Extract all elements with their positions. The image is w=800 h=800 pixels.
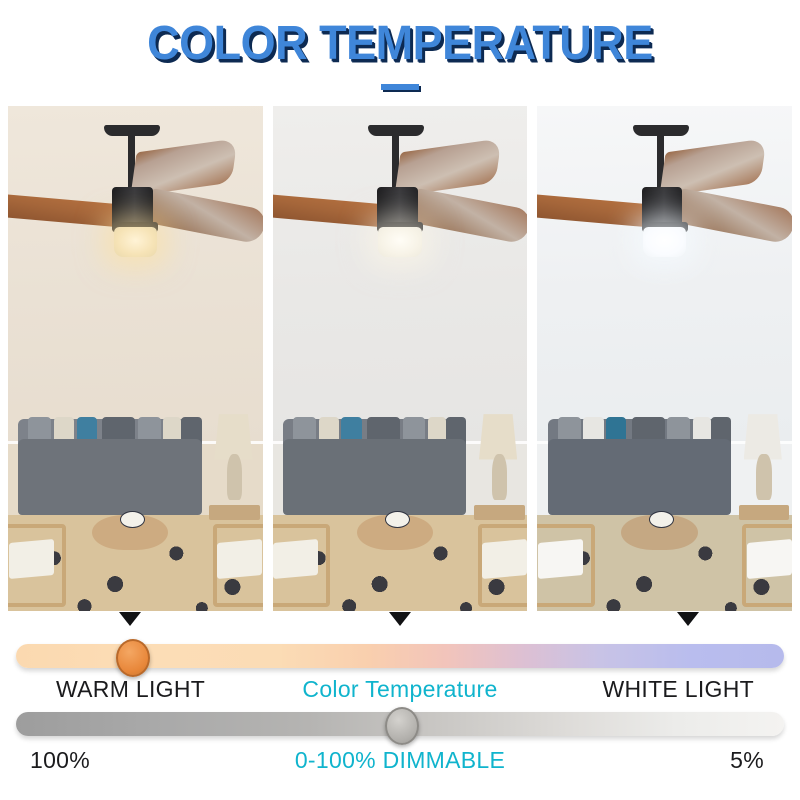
fan-light-kit bbox=[114, 227, 157, 257]
table-lamp-shade bbox=[744, 414, 782, 459]
fan-blade-3 bbox=[410, 189, 527, 246]
table-lamp-base bbox=[492, 454, 507, 499]
fan-light-kit bbox=[643, 227, 686, 257]
fan-light-kit bbox=[378, 227, 421, 257]
ceiling-fan-warm bbox=[8, 116, 263, 369]
white-light-label: WHITE LIGHT bbox=[602, 676, 754, 703]
dimmer-min-label: 5% bbox=[730, 747, 764, 774]
decorative-plate bbox=[120, 511, 145, 528]
product-feature-graphic: COLOR TEMPERATURE bbox=[0, 0, 800, 800]
color-temperature-slider-knob[interactable] bbox=[116, 639, 150, 677]
decorative-plate bbox=[649, 511, 674, 528]
warm-light-label: WARM LIGHT bbox=[56, 676, 205, 703]
table-lamp-base bbox=[227, 454, 242, 499]
armchair-right bbox=[476, 515, 527, 601]
page-title-block: COLOR TEMPERATURE bbox=[0, 20, 800, 65]
title-underline-dash-icon bbox=[381, 84, 419, 90]
panel-white-light[interactable] bbox=[537, 106, 792, 611]
comparison-panels bbox=[8, 106, 792, 611]
ceiling-fan-cool bbox=[537, 116, 792, 369]
armchair-right bbox=[212, 515, 263, 601]
table-lamp-shade bbox=[479, 414, 517, 459]
dimmer-max-label: 100% bbox=[30, 747, 90, 774]
down-triangle-marker-cool bbox=[677, 612, 699, 626]
fan-blade-2 bbox=[273, 194, 391, 228]
table-lamp-base bbox=[756, 454, 771, 499]
armchair-left bbox=[273, 515, 324, 601]
armchair-left bbox=[537, 515, 588, 601]
fan-blade-3 bbox=[146, 189, 263, 246]
down-triangle-marker-neutral bbox=[389, 612, 411, 626]
ceiling-fan-neutral bbox=[273, 116, 528, 369]
page-title: COLOR TEMPERATURE bbox=[147, 18, 653, 67]
sofa bbox=[283, 439, 466, 515]
color-temperature-label: Color Temperature bbox=[302, 676, 497, 703]
sofa bbox=[548, 439, 731, 515]
table-lamp-shade bbox=[214, 414, 252, 459]
sofa bbox=[18, 439, 201, 515]
armchair-left bbox=[8, 515, 59, 601]
panel-warm-light[interactable] bbox=[8, 106, 263, 611]
fan-blade-2 bbox=[537, 194, 655, 228]
fan-blade-3 bbox=[675, 189, 792, 246]
dimmer-slider-knob[interactable] bbox=[385, 707, 419, 745]
decorative-plate bbox=[385, 511, 410, 528]
armchair-right bbox=[741, 515, 792, 601]
dimmable-label: 0-100% DIMMABLE bbox=[295, 747, 505, 774]
panel-neutral-light[interactable] bbox=[273, 106, 528, 611]
down-triangle-marker-warm bbox=[119, 612, 141, 626]
panel-markers bbox=[0, 612, 800, 638]
fan-blade-2 bbox=[8, 194, 126, 228]
